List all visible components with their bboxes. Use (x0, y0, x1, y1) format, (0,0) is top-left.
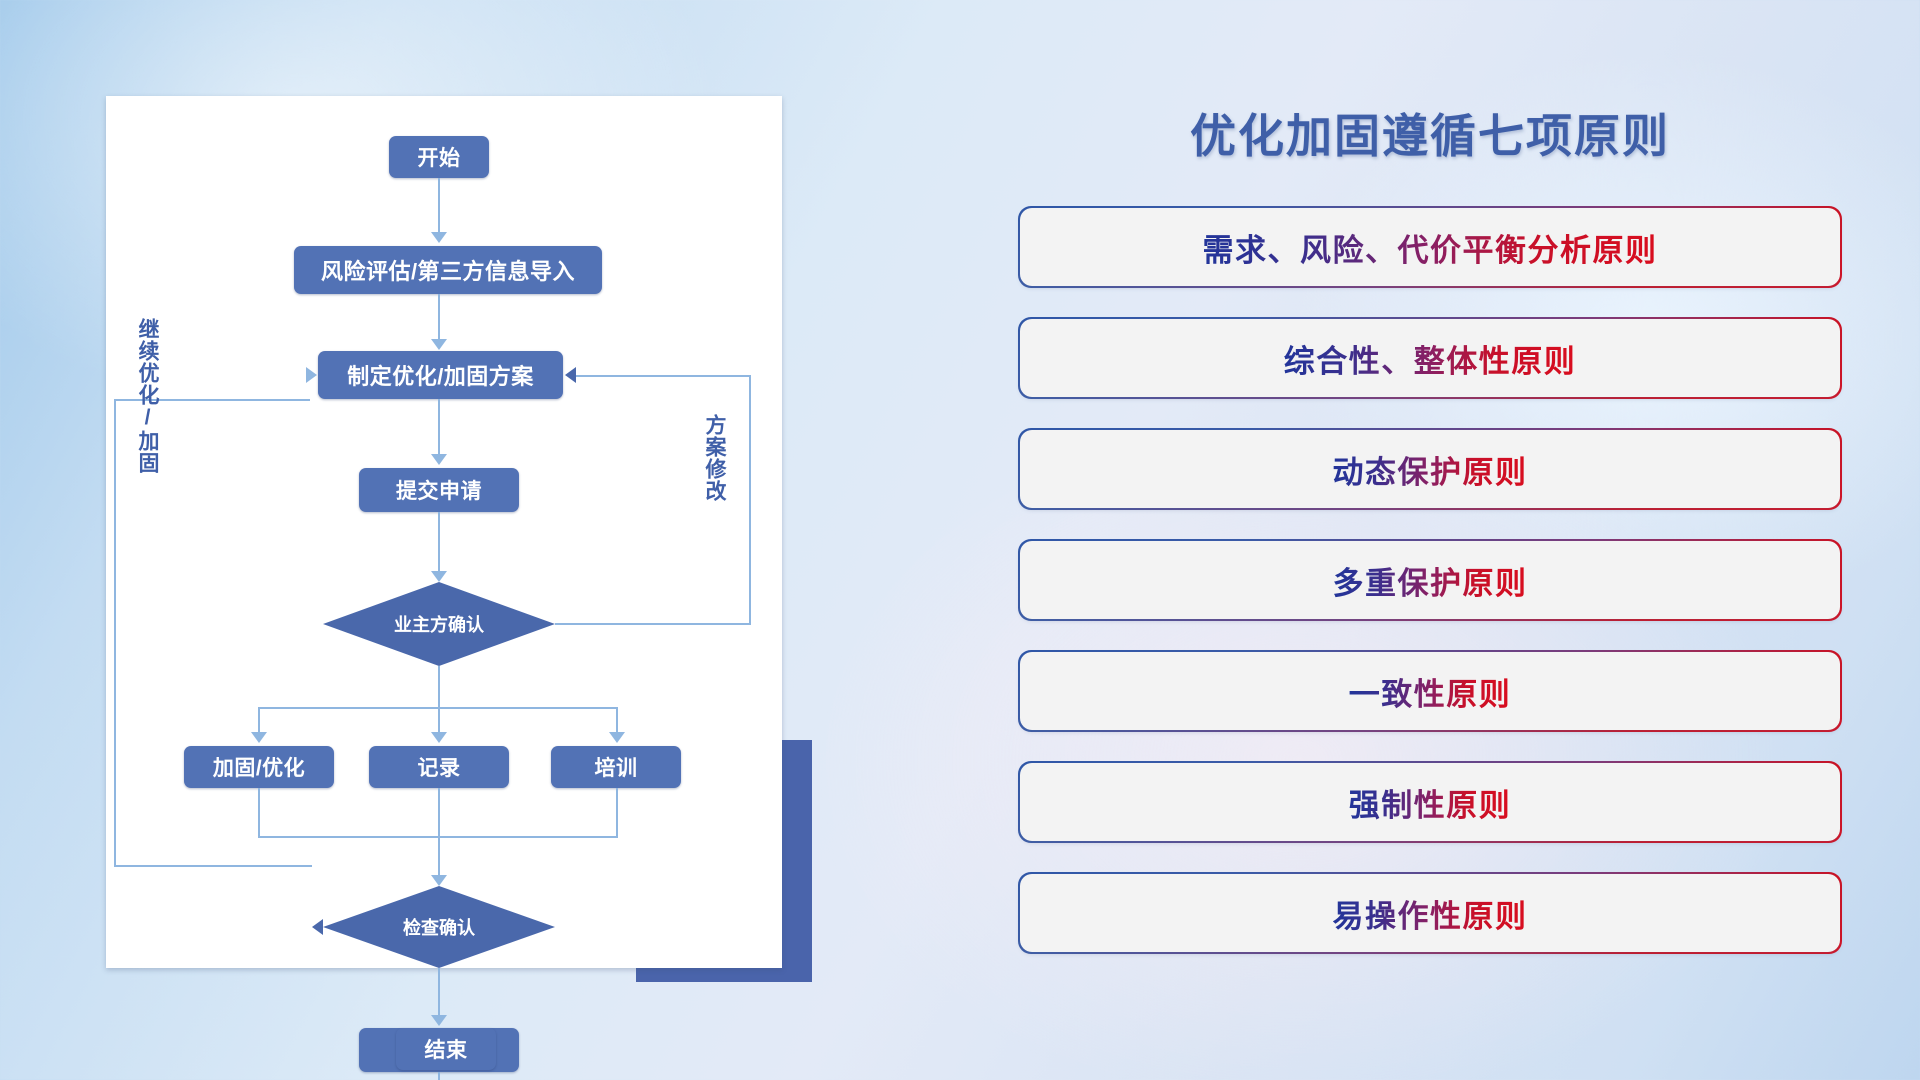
flow-node-record[interactable]: 记录 (369, 746, 509, 788)
flow-node-end-final[interactable]: 结束 (396, 1028, 496, 1070)
connector-report-to-end (438, 1072, 440, 1080)
flow-node-end-label: 结束 (425, 1034, 468, 1064)
principle-label-6: 强制性原则 (1349, 780, 1512, 825)
principle-card-7[interactable]: 易操作性原则 (1020, 874, 1840, 952)
arrow-branch-left (251, 732, 267, 743)
flow-node-risk-assessment-label: 风险评估/第三方信息导入 (321, 254, 575, 286)
flow-node-submit[interactable]: 提交申请 (359, 468, 519, 512)
arrow-plan-to-submit (431, 454, 447, 465)
principle-label-2: 综合性、整体性原则 (1284, 336, 1577, 381)
connector-check-to-report (438, 968, 440, 1018)
flow-node-owner-confirm[interactable]: 业主方确认 (323, 582, 555, 666)
right-loop-top-horizontal (576, 375, 751, 377)
branch-left-drop (258, 707, 260, 735)
principle-card-2[interactable]: 综合性、整体性原则 (1020, 319, 1840, 397)
arrow-submit-to-ownerok (431, 571, 447, 582)
principle-label-3: 动态保护原则 (1333, 447, 1528, 492)
principle-label-4: 多重保护原则 (1333, 558, 1528, 603)
flow-node-reinforce-label: 加固/优化 (213, 752, 305, 782)
flowchart-canvas: 开始 风险评估/第三方信息导入 制定优化/加固方案 提交申请 业主方确认 (106, 96, 782, 968)
arrow-left-loop-into-plan (306, 367, 317, 383)
arrow-right-loop-into-plan (565, 367, 576, 383)
flow-node-start[interactable]: 开始 (389, 136, 489, 178)
arrow-branch-right (609, 732, 625, 743)
principles-panel: 优化加固遵循七项原则 需求、风险、代价平衡分析原则 综合性、整体性原则 动态保护… (1020, 100, 1840, 1000)
connector-risk-to-plan (438, 294, 440, 342)
connector-start-to-risk (438, 178, 440, 235)
merge-left-riser (258, 788, 260, 838)
flow-node-training-label: 培训 (595, 752, 638, 782)
merge-right-riser (616, 788, 618, 838)
arrow-check-to-left-loop (312, 919, 323, 935)
principle-card-6[interactable]: 强制性原则 (1020, 763, 1840, 841)
flow-node-plan-label: 制定优化/加固方案 (347, 359, 534, 391)
edge-label-plan-revision: 方案修改 (703, 414, 725, 502)
flow-node-check-confirm-label: 检查确认 (403, 914, 475, 940)
arrow-check-to-report (431, 1015, 447, 1026)
connector-submit-to-ownerok (438, 512, 440, 574)
arrow-merge-to-check (431, 875, 447, 886)
left-loop-bottom-horizontal (114, 865, 312, 867)
flow-node-check-confirm[interactable]: 检查确认 (323, 886, 555, 968)
arrow-branch-mid (431, 732, 447, 743)
flow-node-submit-label: 提交申请 (396, 475, 482, 505)
flow-node-reinforce[interactable]: 加固/优化 (184, 746, 334, 788)
principle-label-5: 一致性原则 (1349, 669, 1512, 714)
left-loop-vertical (114, 399, 116, 867)
principle-card-1[interactable]: 需求、风险、代价平衡分析原则 (1020, 208, 1840, 286)
merge-to-check (438, 788, 440, 878)
principle-card-4[interactable]: 多重保护原则 (1020, 541, 1840, 619)
principles-title: 优化加固遵循七项原则 (1020, 100, 1840, 166)
connector-plan-to-submit (438, 399, 440, 457)
flow-node-plan[interactable]: 制定优化/加固方案 (318, 351, 563, 399)
principle-label-7: 易操作性原则 (1333, 891, 1528, 936)
edge-label-continue-optimize: 继续优化/加固 (136, 318, 158, 474)
principle-card-5[interactable]: 一致性原则 (1020, 652, 1840, 730)
branch-mid-drop (438, 707, 440, 735)
principle-label-1: 需求、风险、代价平衡分析原则 (1203, 225, 1658, 270)
flow-node-risk-assessment[interactable]: 风险评估/第三方信息导入 (294, 246, 602, 294)
connector-ownerok-down (438, 666, 440, 709)
flowchart-card: 开始 风险评估/第三方信息导入 制定优化/加固方案 提交申请 业主方确认 (106, 96, 782, 968)
branch-right-drop (616, 707, 618, 735)
arrow-risk-to-plan (431, 339, 447, 350)
flow-node-record-label: 记录 (418, 752, 461, 782)
flow-node-owner-confirm-label: 业主方确认 (394, 611, 484, 637)
principle-card-3[interactable]: 动态保护原则 (1020, 430, 1840, 508)
flow-node-training[interactable]: 培训 (551, 746, 681, 788)
flow-node-start-label: 开始 (418, 142, 461, 172)
right-loop-bottom-horizontal (555, 623, 751, 625)
arrow-start-to-risk (431, 232, 447, 243)
right-loop-vertical (749, 375, 751, 625)
